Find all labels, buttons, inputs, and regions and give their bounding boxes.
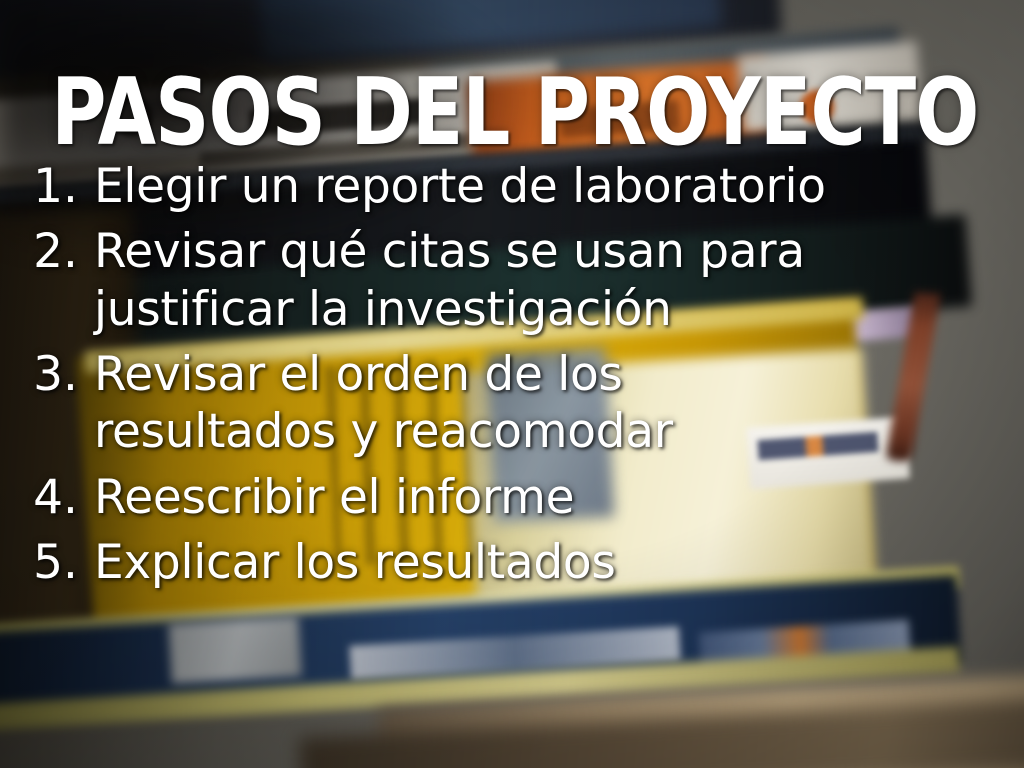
list-item: 2. Revisar qué citas se usan para justif… <box>0 223 1024 338</box>
step-number: 3. <box>0 346 94 403</box>
presentation-slide: PASOS DEL PROYECTO 1. Elegir un reporte … <box>0 0 1024 768</box>
step-number: 2. <box>0 223 94 280</box>
slide-content: PASOS DEL PROYECTO 1. Elegir un reporte … <box>0 0 1024 768</box>
steps-list: 1. Elegir un reporte de laboratorio 2. R… <box>0 158 1024 599</box>
step-text: Elegir un reporte de laboratorio <box>94 158 854 215</box>
list-item: 4. Reescribir el informe <box>0 469 1024 526</box>
step-number: 5. <box>0 534 94 591</box>
step-text: Reescribir el informe <box>94 469 854 526</box>
list-item: 5. Explicar los resultados <box>0 534 1024 591</box>
list-item: 3. Revisar el orden de los resultados y … <box>0 346 1024 461</box>
step-number: 4. <box>0 469 94 526</box>
step-text: Explicar los resultados <box>94 534 854 591</box>
slide-title: PASOS DEL PROYECTO <box>51 66 973 159</box>
step-number: 1. <box>0 158 94 215</box>
list-item: 1. Elegir un reporte de laboratorio <box>0 158 1024 215</box>
step-text: Revisar qué citas se usan para justifica… <box>94 223 854 338</box>
step-text: Revisar el orden de los resultados y rea… <box>94 346 854 461</box>
